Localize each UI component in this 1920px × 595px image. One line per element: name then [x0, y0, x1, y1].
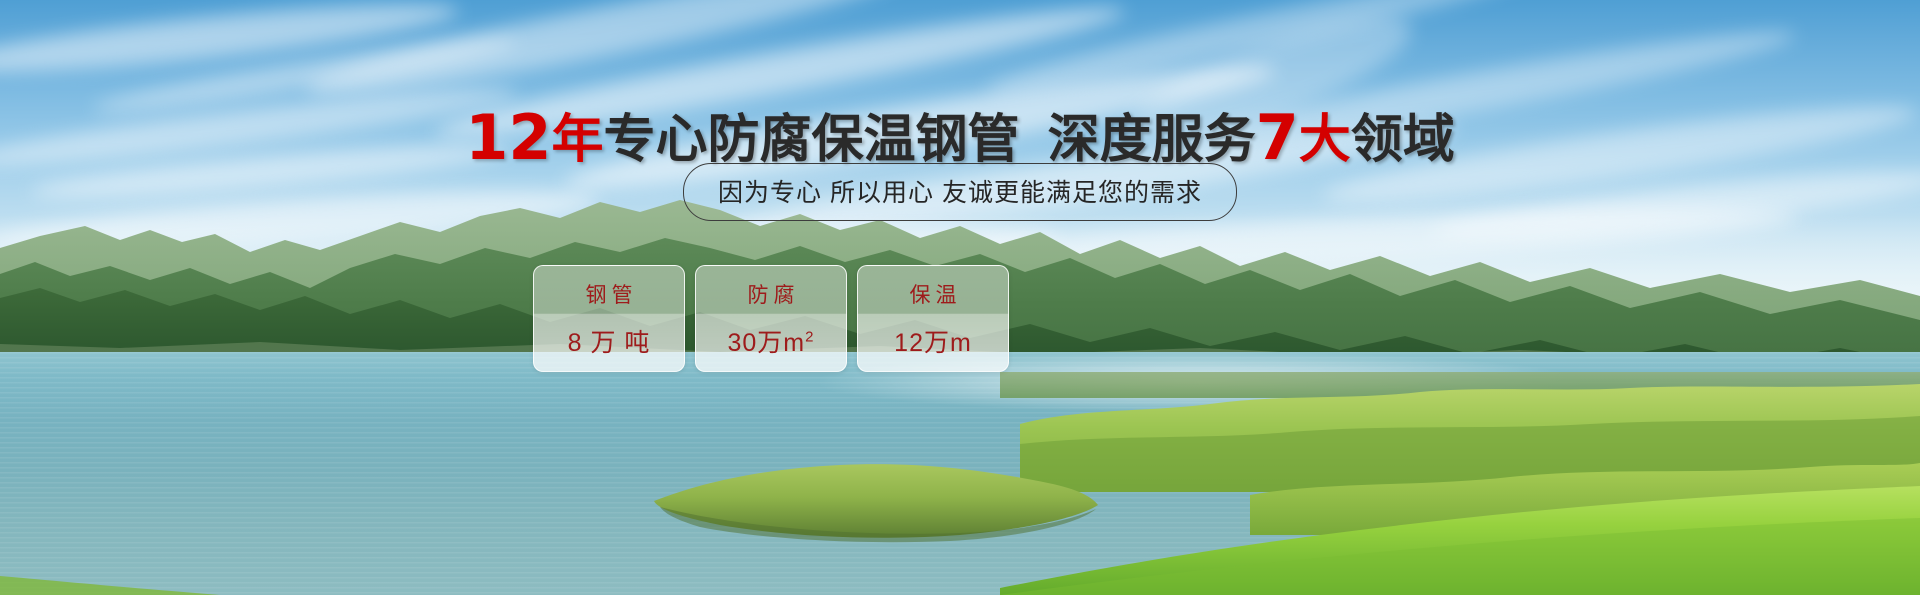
- headline-fields-unit: 大: [1299, 111, 1351, 169]
- banner-headline: 12年专心防腐保温钢管深度服务7大领域: [0, 107, 1920, 169]
- stat-value: 12万m: [894, 323, 972, 359]
- stat-value-superscript: 2: [805, 328, 814, 345]
- banner-subtitle-wrapper: 因为专心 所以用心 友诚更能满足您的需求: [0, 163, 1920, 221]
- hero-banner: 12年专心防腐保温钢管深度服务7大领域 因为专心 所以用心 友诚更能满足您的需求…: [0, 0, 1920, 595]
- stat-card-group: 钢管 8 万 吨 防腐 30万m2 保温 12万m: [533, 265, 1009, 372]
- headline-service-text: 深度服务: [1048, 111, 1256, 169]
- stat-value-text: 12万m: [894, 329, 972, 357]
- stat-label: 防腐: [743, 279, 800, 309]
- stat-label: 保温: [905, 279, 962, 309]
- banner-subtitle-pill: 因为专心 所以用心 友诚更能满足您的需求: [683, 163, 1237, 221]
- headline-years-unit: 年: [552, 111, 604, 169]
- stat-card-anticorrosion[interactable]: 防腐 30万m2: [695, 265, 847, 372]
- stat-card-steel-pipe[interactable]: 钢管 8 万 吨: [533, 265, 685, 372]
- headline-main-text: 专心防腐保温钢管: [604, 111, 1020, 169]
- banner-content: 12年专心防腐保温钢管深度服务7大领域 因为专心 所以用心 友诚更能满足您的需求…: [0, 0, 1920, 595]
- stat-card-insulation[interactable]: 保温 12万m: [857, 265, 1009, 372]
- stat-value-text: 8 万 吨: [568, 329, 651, 357]
- stat-label: 钢管: [581, 279, 638, 309]
- stat-value: 30万m2: [728, 323, 815, 359]
- headline-fields-text: 领域: [1351, 111, 1455, 169]
- stat-value: 8 万 吨: [568, 323, 651, 359]
- stat-value-text: 30万m: [728, 329, 806, 357]
